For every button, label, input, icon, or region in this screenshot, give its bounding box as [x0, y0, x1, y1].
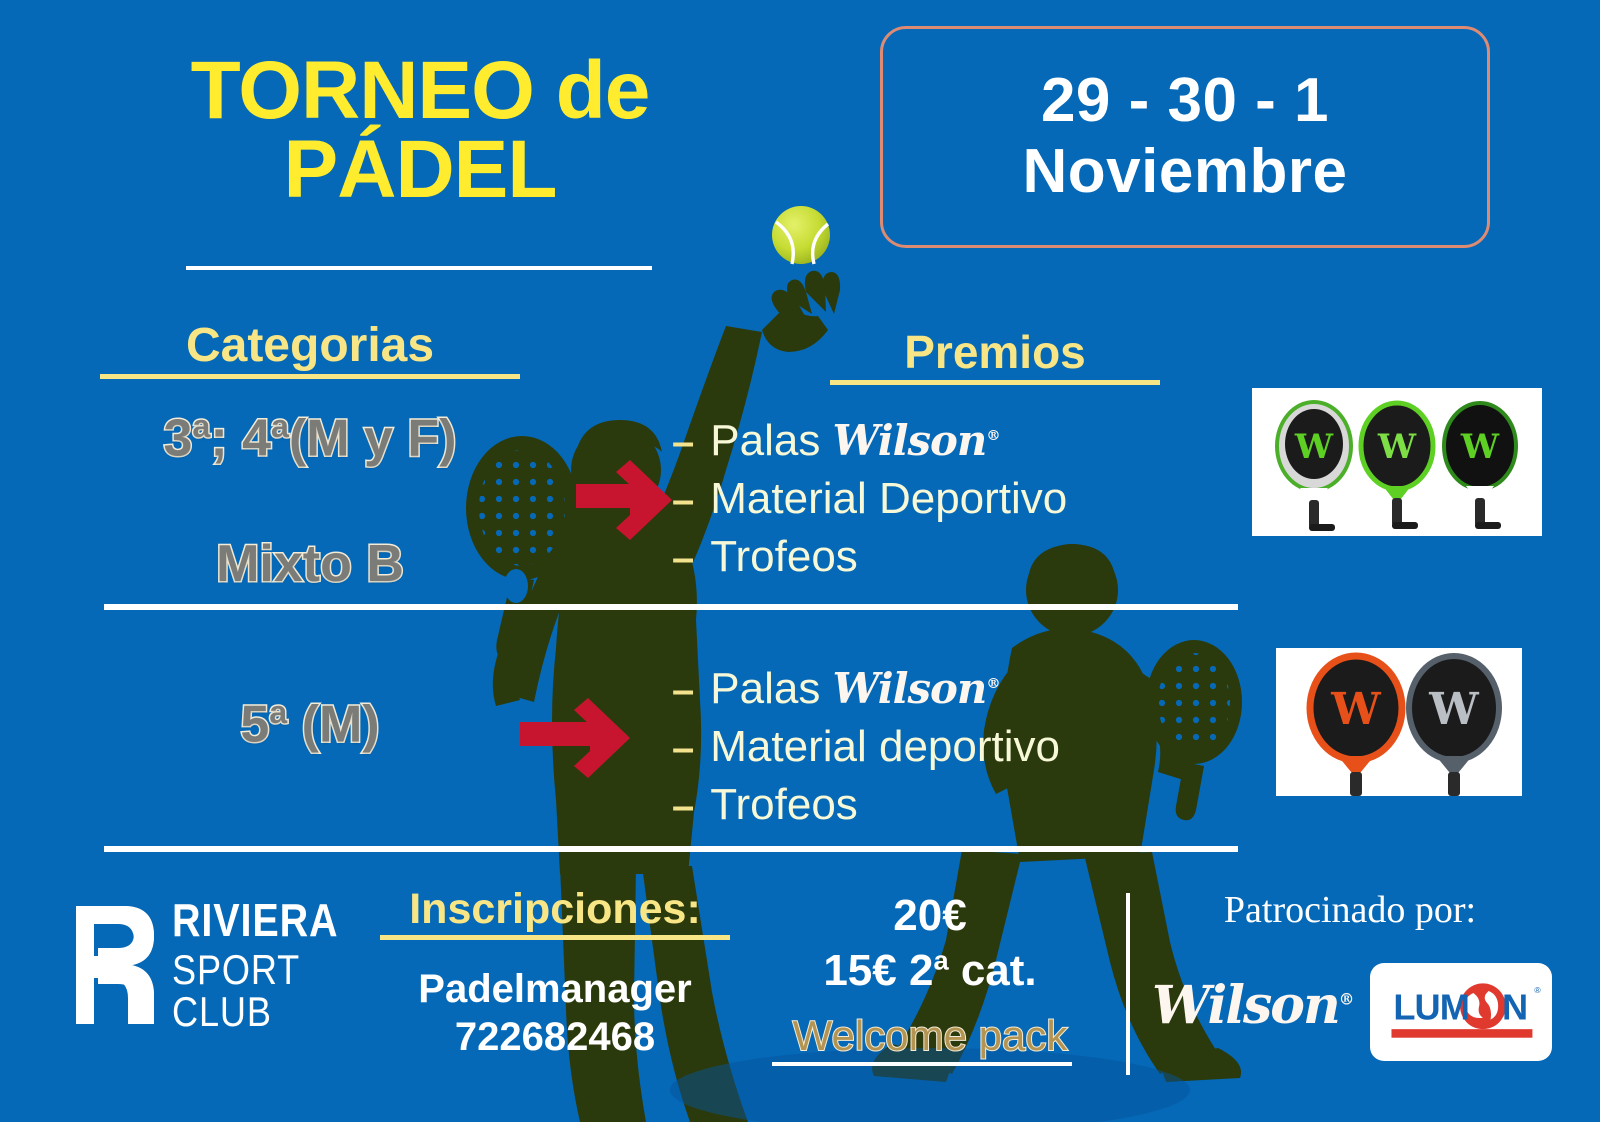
- svg-text:W: W: [1460, 427, 1500, 467]
- cat3-sup: a: [269, 694, 287, 730]
- svg-text:LUM: LUM: [1393, 987, 1469, 1028]
- title-divider: [186, 266, 652, 270]
- category-item-3: 5a (M): [60, 694, 560, 754]
- prize-label: Palas: [710, 664, 832, 713]
- cat1-mid: ; 4: [210, 409, 271, 467]
- wilson-wordmark: Wilson: [833, 664, 987, 713]
- category-item-2: Mixto B: [60, 534, 560, 594]
- cat1-tail: (M y F): [289, 409, 457, 467]
- prize-row: – Palas Wilson®: [672, 660, 1060, 718]
- svg-text:W: W: [1294, 427, 1334, 467]
- arrow-right-icon: [576, 460, 672, 540]
- club-name-line-2: SPORT CLUB: [172, 949, 370, 1033]
- svg-text:W: W: [1428, 684, 1479, 735]
- prize-row: – Material Deportivo: [672, 470, 1067, 528]
- club-name-line-1: RIVIERA: [172, 897, 370, 943]
- wilson-rackets-photo-green: W W W: [1252, 388, 1542, 536]
- prize-label: Palas: [710, 416, 832, 465]
- price-second-amount: 15€ 2: [823, 946, 933, 995]
- wilson-logo-text: Wilson®: [833, 664, 1000, 713]
- categories-heading-label: Categorias: [186, 319, 434, 372]
- prize-list-block-2: – Palas Wilson® – Material deportivo – T…: [672, 660, 1060, 834]
- prizes-heading: Premios: [830, 325, 1160, 385]
- inscriptions-heading: Inscripciones:: [380, 885, 730, 940]
- cat3-tail: (M): [287, 695, 379, 753]
- heading-underline: [830, 380, 1160, 385]
- sponsors-heading: Patrocinado por:: [1150, 888, 1550, 932]
- lumon-sponsor-logo: LUM N ®: [1370, 963, 1552, 1061]
- riviera-r-mark: [72, 904, 158, 1026]
- bullet-dash: –: [672, 780, 694, 833]
- prize-text: Palas Wilson®: [710, 660, 999, 718]
- price-second-tail: cat.: [949, 946, 1037, 995]
- date-line-1: 29 - 30 - 1: [1023, 66, 1348, 137]
- riviera-sport-club-logo: RIVIERA SPORT CLUB: [72, 900, 402, 1030]
- lumon-mark: LUM N ®: [1379, 972, 1543, 1052]
- inscriptions-details: Padelmanager 722682468: [380, 965, 730, 1061]
- wilson-wordmark: Wilson: [1152, 975, 1339, 1036]
- prize-row: – Trofeos: [672, 776, 1060, 834]
- wilson-logo-text: Wilson®: [833, 416, 1000, 465]
- prize-label: Trofeos: [710, 528, 858, 586]
- price-second-category: 15€ 2a cat.: [760, 943, 1100, 998]
- price-block: 20€ 15€ 2a cat.: [760, 888, 1100, 998]
- inscription-phone: 722682468: [380, 1013, 730, 1061]
- heading-underline: [100, 374, 520, 379]
- section-divider-2: [104, 846, 1238, 852]
- bullet-dash: –: [672, 532, 694, 585]
- price-full: 20€: [760, 888, 1100, 943]
- prize-label: Material deportivo: [710, 718, 1060, 776]
- prize-text: Palas Wilson®: [710, 412, 999, 470]
- bullet-dash: –: [672, 474, 694, 527]
- wilson-wordmark: Wilson: [833, 416, 987, 465]
- date-box: 29 - 30 - 1 Noviembre: [880, 26, 1490, 248]
- cat3-base: 5: [240, 695, 269, 753]
- sponsor-vertical-divider: [1126, 893, 1130, 1075]
- date-line-2: Noviembre: [1023, 137, 1348, 208]
- cat1-sup: a: [192, 408, 210, 444]
- svg-text:W: W: [1377, 427, 1417, 467]
- inscriptions-heading-label: Inscripciones:: [409, 885, 701, 933]
- category-item-1: 3a; 4a(M y F): [60, 408, 560, 468]
- bullet-dash: –: [672, 664, 694, 717]
- wilson-sponsor-logo: Wilson®: [1152, 975, 1342, 1036]
- prize-label: Trofeos: [710, 776, 858, 834]
- prize-list-block-1: – Palas Wilson® – Material Deportivo – T…: [672, 412, 1067, 586]
- welcome-pack-underline: [772, 1062, 1072, 1066]
- bullet-dash: –: [672, 722, 694, 775]
- padel-tournament-poster: TORNEO de PÁDEL 29 - 30 - 1 Noviembre Ca…: [0, 0, 1600, 1122]
- wilson-rackets-photo-orange: W W: [1276, 648, 1522, 796]
- prize-row: – Trofeos: [672, 528, 1067, 586]
- prize-row: – Palas Wilson®: [672, 412, 1067, 470]
- welcome-pack-label: Welcome pack: [760, 1012, 1100, 1060]
- categories-heading: Categorias: [100, 318, 520, 379]
- bullet-dash: –: [672, 416, 694, 469]
- price-second-sup: a: [933, 944, 948, 975]
- svg-text:W: W: [1330, 684, 1381, 735]
- inscription-platform: Padelmanager: [380, 965, 730, 1013]
- prize-label: Material Deportivo: [710, 470, 1067, 528]
- heading-underline: [380, 935, 730, 940]
- cat1-sup2: a: [271, 408, 289, 444]
- svg-text:N: N: [1502, 987, 1528, 1028]
- prizes-heading-label: Premios: [904, 326, 1086, 378]
- cat1-base: 3: [163, 409, 192, 467]
- page-title: TORNEO de PÁDEL: [110, 52, 730, 209]
- registered-mark: ®: [1339, 990, 1353, 1009]
- prize-row: – Material deportivo: [672, 718, 1060, 776]
- title-line-1: TORNEO de: [110, 52, 730, 131]
- svg-text:®: ®: [1534, 985, 1541, 995]
- registered-mark: ®: [986, 428, 999, 444]
- section-divider-1: [104, 604, 1238, 610]
- tennis-ball-icon: [772, 206, 830, 264]
- registered-mark: ®: [986, 676, 999, 692]
- title-line-2: PÁDEL: [110, 131, 730, 210]
